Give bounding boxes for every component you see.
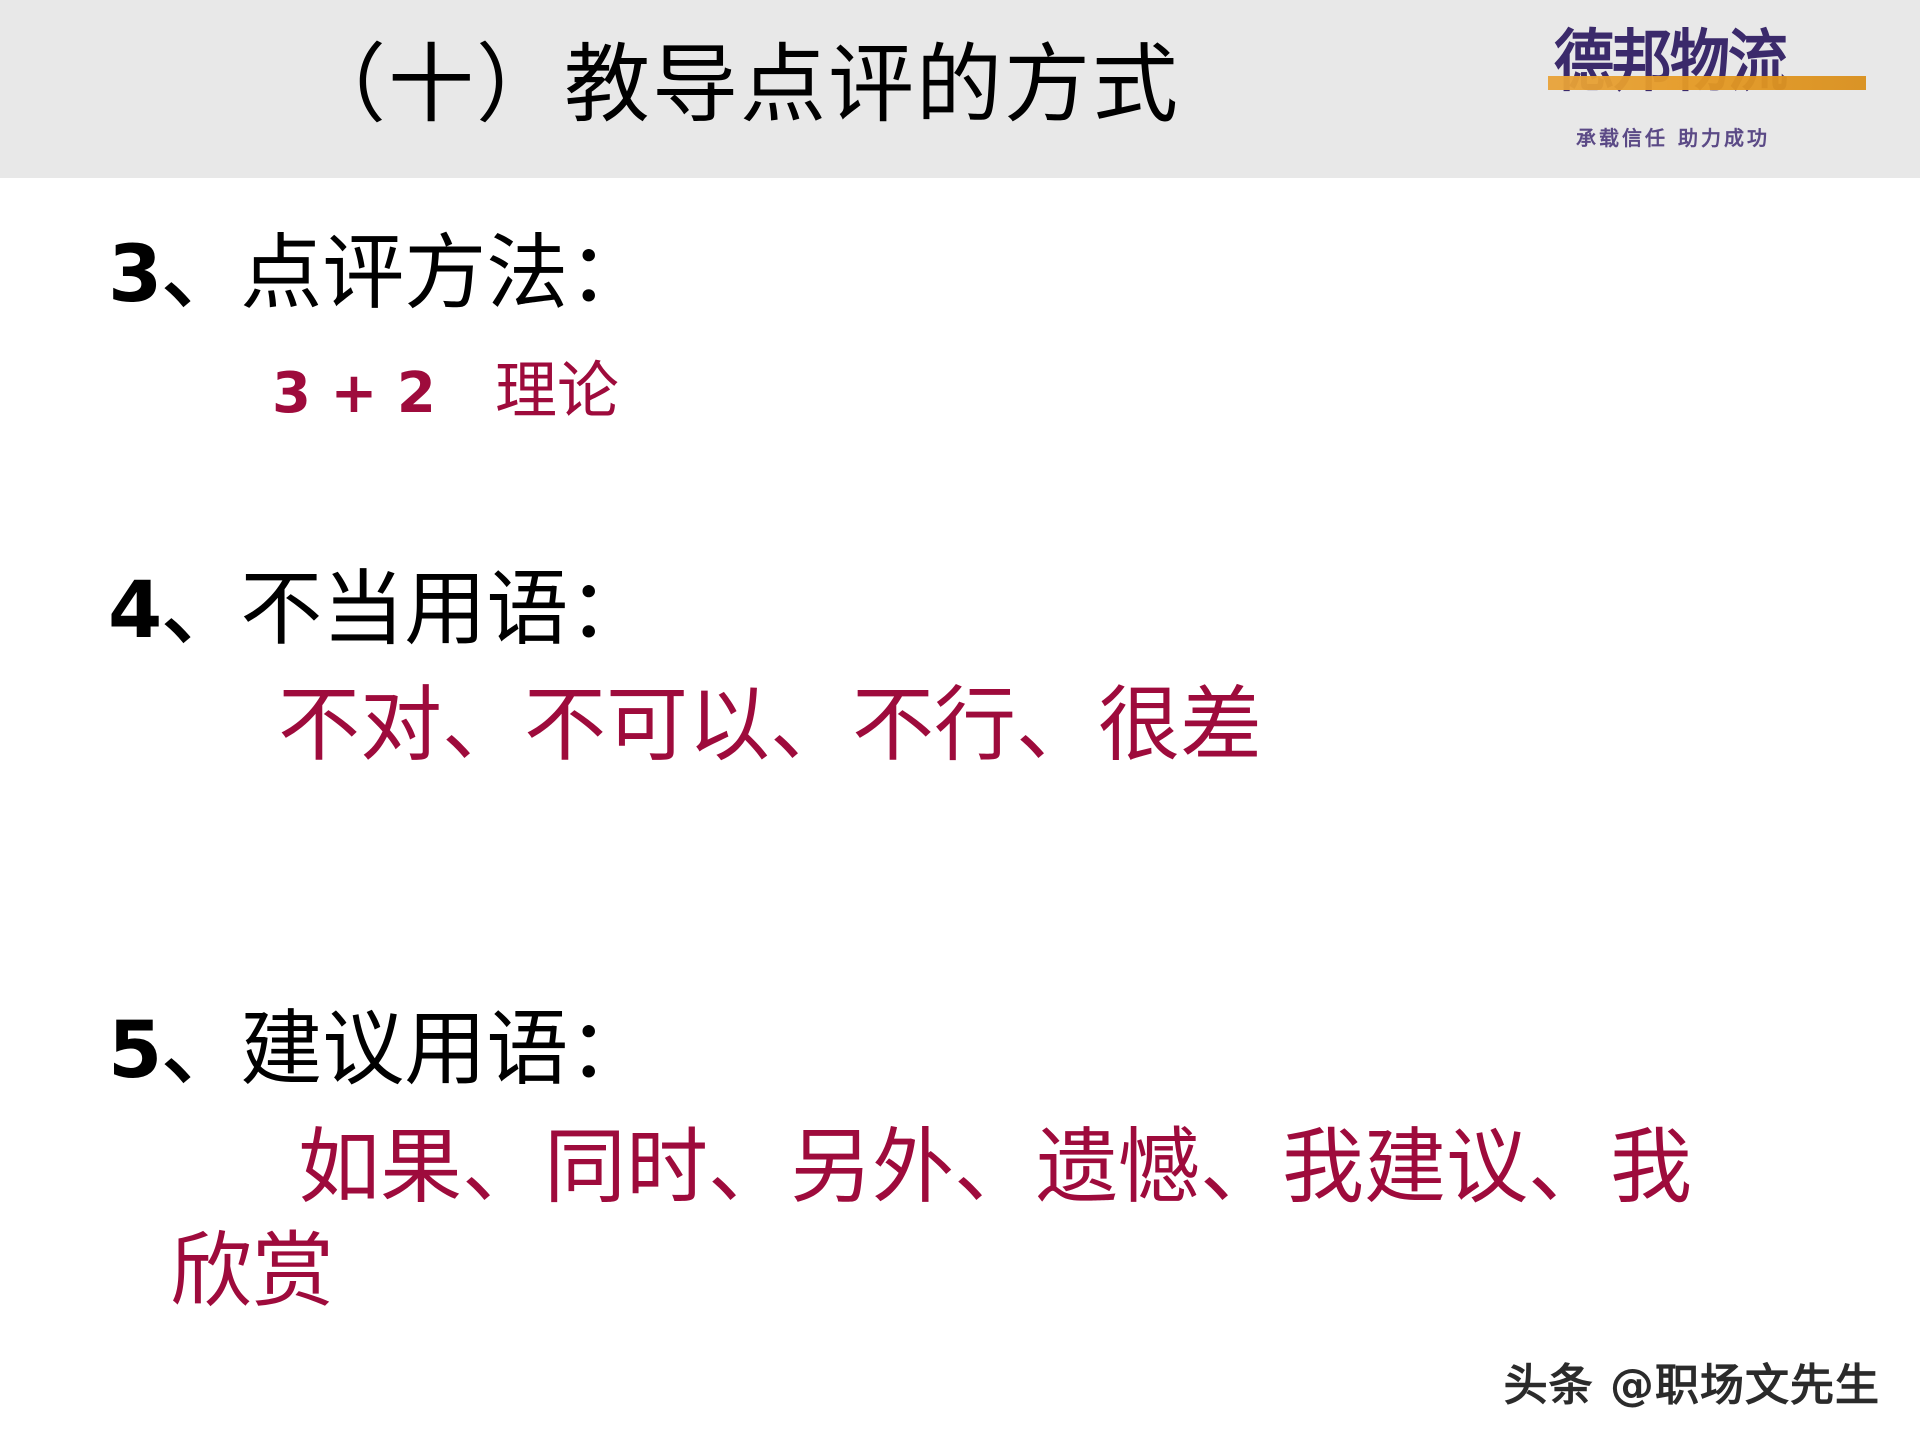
list-item-detail-3: 3 + 2 理论	[272, 350, 619, 435]
list-item-detail-5-line2: 欣赏	[170, 1220, 1920, 1324]
watermark: 头条 @职场文先生	[1504, 1358, 1880, 1414]
list-item-number-4: 4、	[108, 566, 240, 656]
list-item-heading-3: 3、点评方法：	[108, 222, 650, 327]
list-item-heading-4: 4、不当用语：	[108, 558, 650, 663]
logo-tagline: 承载信任 助力成功	[1576, 122, 1876, 151]
list-item-detail-4: 不对、不可以、不行、很差	[278, 674, 1262, 778]
list-item-label-3: 点评方法：	[240, 226, 650, 321]
list-item-detail-5: 如果、同时、另外、遗憾、我建议、我 欣赏	[170, 1116, 1920, 1324]
list-item-label-4: 不当用语：	[240, 562, 650, 657]
slide-body: 3、点评方法： 3 + 2 理论 4、不当用语： 不对、不可以、不行、很差 5、…	[0, 178, 1920, 1440]
logo-mark: 德邦物流	[1548, 14, 1878, 112]
page-title: （十）教导点评的方式	[0, 26, 1480, 144]
presentation-slide: （十）教导点评的方式 德邦物流 承载信任 助力成功 3、点评方法： 3 + 2 …	[0, 0, 1920, 1440]
list-item-heading-5: 5、建议用语：	[108, 998, 650, 1103]
list-item-label-5: 建议用语：	[240, 1002, 650, 1097]
list-item-number-5: 5、	[108, 1006, 240, 1096]
logo-brand-text: 德邦物流	[1554, 16, 1878, 108]
list-item-number-3: 3、	[108, 230, 240, 320]
list-item-detail-5-line1: 如果、同时、另外、遗憾、我建议、我	[170, 1116, 1920, 1220]
theory-formula: 3 + 2	[272, 361, 436, 426]
logo-orange-bar	[1548, 76, 1866, 90]
debang-logo: 德邦物流 承载信任 助力成功	[1548, 14, 1878, 154]
theory-label: 理论	[495, 354, 619, 427]
